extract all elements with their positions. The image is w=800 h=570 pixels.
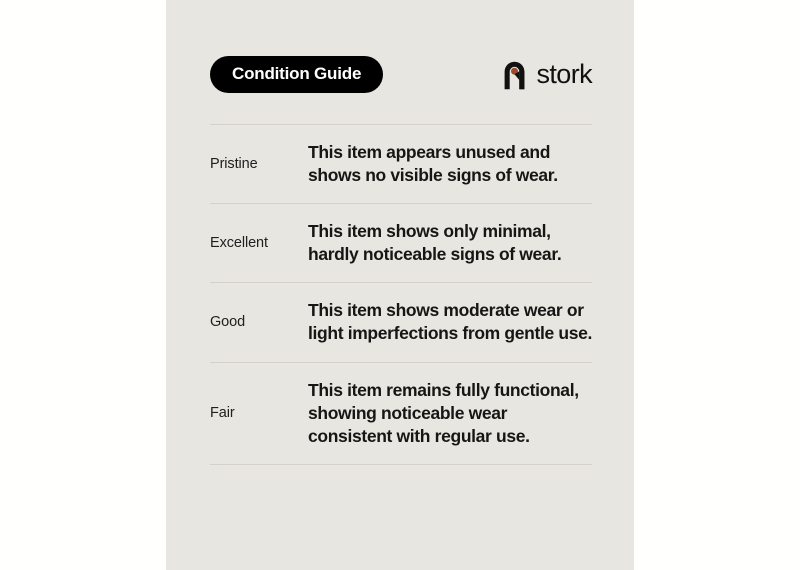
condition-label: Pristine — [210, 155, 308, 174]
page-title-pill: Condition Guide — [210, 56, 383, 93]
table-row: Pristine This item appears unused and sh… — [210, 125, 592, 203]
table-row: Excellent This item shows only minimal, … — [210, 204, 592, 282]
condition-description: This item shows moderate wear or light i… — [308, 299, 592, 345]
table-row: Good This item shows moderate wear or li… — [210, 283, 592, 361]
table-row: Fair This item remains fully functional,… — [210, 363, 592, 464]
condition-description: This item shows only minimal, hardly not… — [308, 220, 592, 266]
condition-label: Good — [210, 313, 308, 332]
condition-label: Excellent — [210, 234, 308, 253]
condition-description: This item remains fully functional, show… — [308, 379, 592, 448]
brand-name: stork — [536, 61, 592, 88]
table-divider-bottom — [210, 464, 592, 465]
condition-label: Fair — [210, 404, 308, 423]
page-root: Condition Guide stork Pristine This item — [0, 0, 800, 570]
brand-lockup: stork — [501, 58, 592, 90]
condition-table: Pristine This item appears unused and sh… — [210, 124, 592, 465]
condition-description: This item appears unused and shows no vi… — [308, 141, 592, 187]
condition-guide-card: Condition Guide stork Pristine This item — [166, 0, 634, 570]
stork-arch-mark-icon — [501, 58, 528, 90]
card-header: Condition Guide stork — [210, 54, 592, 94]
